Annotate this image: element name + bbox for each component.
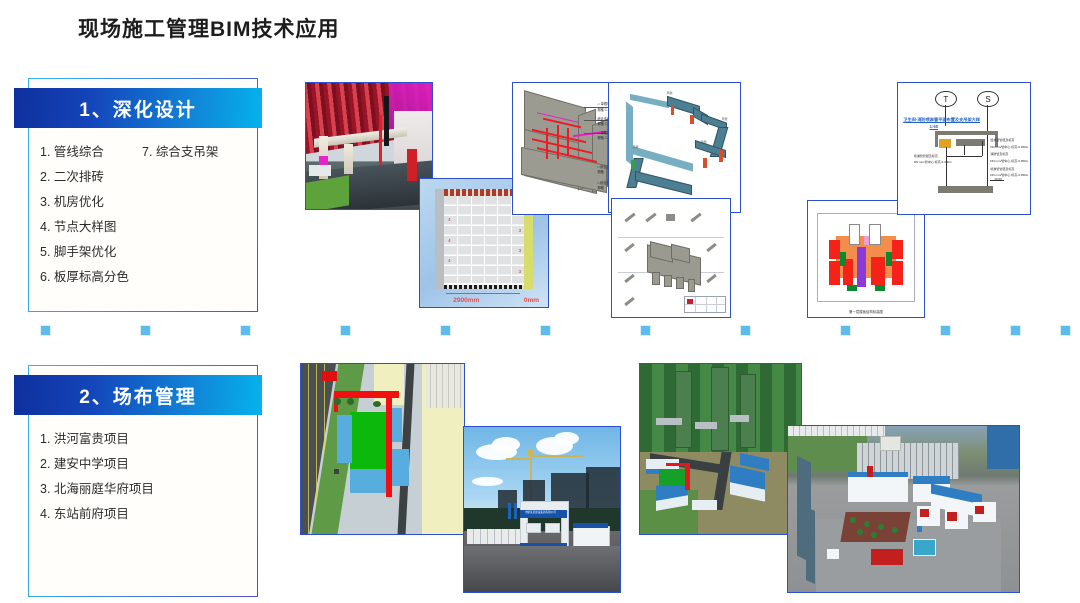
divider-square	[540, 325, 551, 336]
divider-square	[940, 325, 951, 336]
support-hanger-illustration	[612, 199, 730, 317]
divider-square	[1060, 325, 1071, 336]
floorplan-illustration: 第一层楼板结构标高图	[808, 201, 924, 317]
divider-square	[240, 325, 251, 336]
list-item-extra: 7. 综合支吊架	[142, 140, 218, 165]
thumbnail-mep-corridor-photo[interactable]	[305, 82, 433, 210]
thumbnail-construction-gate-render[interactable]: 中建某某建设集团有限公司	[463, 426, 621, 593]
schematic-note: 卫生间-消防喷淋管平面布置及支吊架大样	[903, 117, 980, 123]
section-2-list: 1. 洪河富贵项目 2. 建安中学项目 3. 北海丽庭华府项目 4. 东站前府项…	[40, 427, 252, 527]
divider-squares	[0, 325, 1080, 339]
grid-bubble-t: T	[935, 91, 957, 107]
duct-loop-illustration: 风管 风管 风管 风管	[609, 83, 740, 212]
brick-zero-label: 0mm	[524, 297, 539, 304]
section-card-2: 2、场布管理 1. 洪河富贵项目 2. 建安中学项目 3. 北海丽庭华府项目 4…	[10, 365, 280, 597]
thumbnail-site-layout-plan[interactable]	[300, 363, 465, 535]
slide-canvas: 现场施工管理BIM技术应用 1、深化设计 1. 管线综合 2. 二次排砖 3. …	[0, 0, 1080, 603]
divider-square	[640, 325, 651, 336]
list-item: 4. 东站前府项目	[40, 502, 252, 527]
schematic-scale: 1:50	[930, 124, 938, 129]
divider-square	[1010, 325, 1021, 336]
thumbnail-node-detail-schematic[interactable]: T S 卫生间-消防喷淋管平面布置及支吊架大样 1:50 给水管管径及标高 DN…	[897, 82, 1031, 215]
node-schematic-illustration: T S 卫生间-消防喷淋管平面布置及支吊架大样 1:50 给水管管径及标高 DN…	[898, 83, 1030, 214]
section-2-banner[interactable]: 2、场布管理	[14, 375, 262, 415]
thumbnail-aerial-camp-render[interactable]	[639, 363, 802, 535]
aerial-office-illustration	[788, 426, 1019, 592]
title-block	[684, 296, 726, 313]
list-item: 2. 二次排砖	[40, 165, 252, 190]
divider-square	[840, 325, 851, 336]
list-item: 6. 板厚标高分色	[40, 265, 252, 290]
thumbnail-support-hanger-sheet[interactable]	[611, 198, 731, 318]
gate-render-illustration: 中建某某建设集团有限公司	[464, 427, 620, 592]
site-plan-illustration	[301, 364, 464, 534]
divider-square	[740, 325, 751, 336]
aerial-camp-illustration	[640, 364, 801, 534]
list-item: 3. 机房优化	[40, 190, 252, 215]
divider-square	[340, 325, 351, 336]
list-item: 3. 北海丽庭华府项目	[40, 477, 252, 502]
thumbnail-aerial-site-office-render[interactable]	[787, 425, 1020, 593]
list-item: 2. 建安中学项目	[40, 452, 252, 477]
list-item: 5. 脚手架优化	[40, 240, 252, 265]
divider-square	[440, 325, 451, 336]
divider-square	[40, 325, 51, 336]
thumbnail-slab-thickness-floorplan[interactable]: 第一层楼板结构标高图	[807, 200, 925, 318]
mep-corridor-illustration	[306, 83, 432, 209]
section-card-1: 1、深化设计 1. 管线综合 2. 二次排砖 3. 机房优化 4. 节点大样图 …	[10, 78, 280, 312]
grid-bubble-s: S	[977, 91, 999, 107]
list-item: 1. 洪河富贵项目	[40, 427, 252, 452]
section-1-banner[interactable]: 1、深化设计	[14, 88, 262, 128]
thumbnail-duct-loop-3d-model[interactable]: 风管 风管 风管 风管	[608, 82, 741, 213]
divider-square	[140, 325, 151, 336]
floorplan-caption: 第一层楼板结构标高图	[808, 309, 924, 314]
list-item: 4. 节点大样图	[40, 215, 252, 240]
brick-dimension-label: 2900mm	[453, 297, 479, 304]
page-title: 现场施工管理BIM技术应用	[78, 13, 340, 43]
